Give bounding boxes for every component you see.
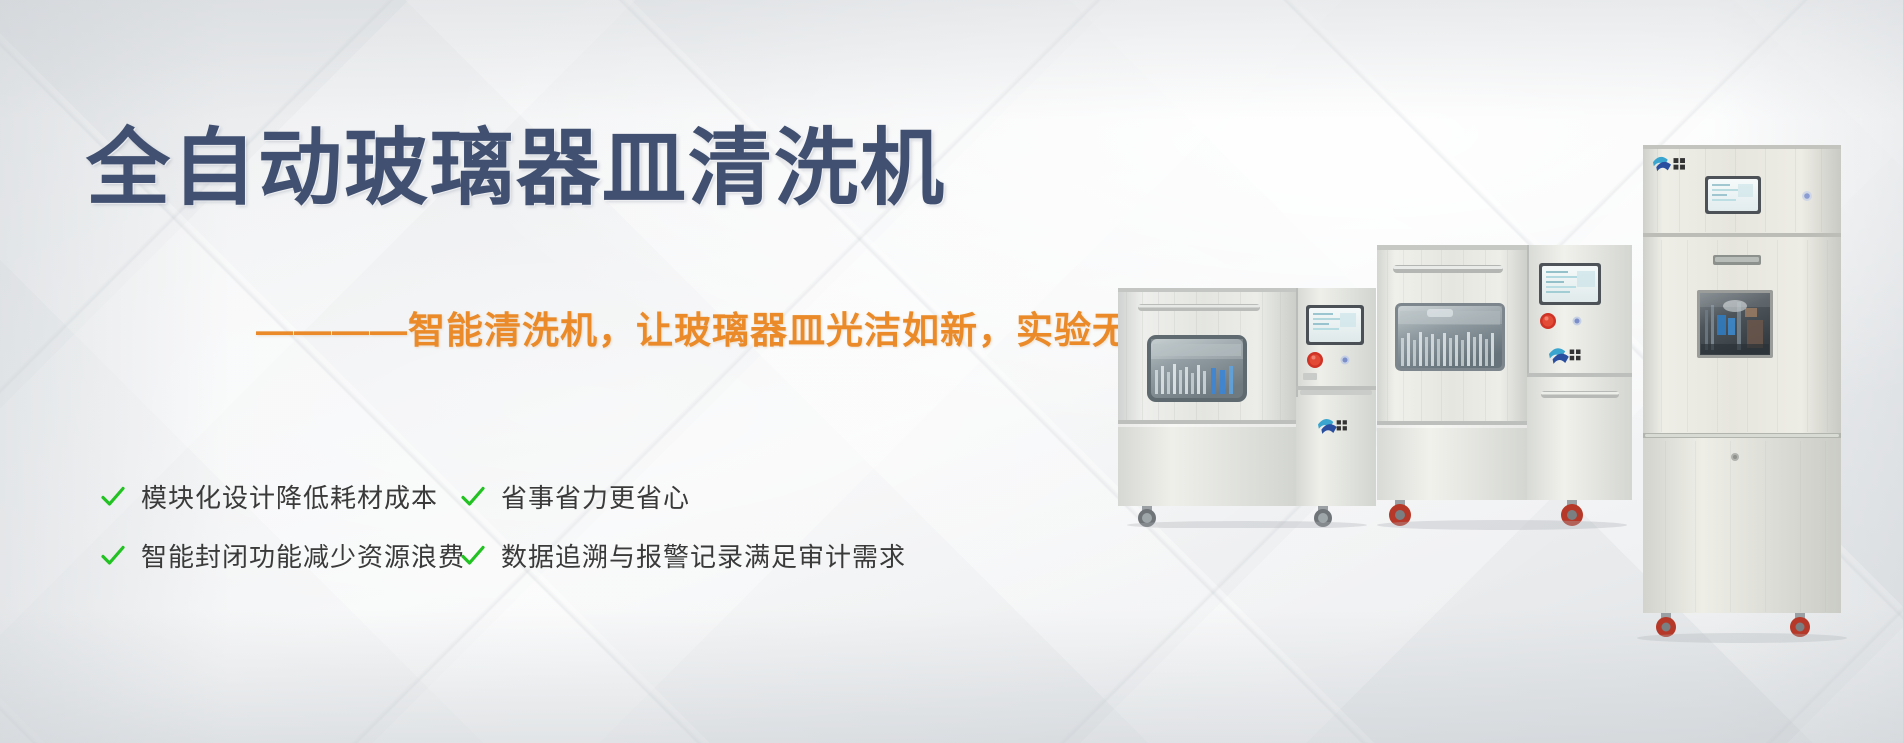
feature-item: 省事省力更省心	[460, 478, 980, 515]
feature-row: 模块化设计降低耗材成本 省事省力更省心	[100, 478, 1100, 515]
product-images	[1080, 0, 1903, 743]
feature-label: 模块化设计降低耗材成本	[141, 478, 438, 515]
product-banner: 全自动玻璃器皿清洗机 ————智能清洗机，让玻璃器皿光洁如新，实验无忧！ 模块化…	[0, 0, 1903, 743]
feature-row: 智能封闭功能减少资源浪费 数据追溯与报警记录满足审计需求	[100, 537, 1100, 574]
banner-headline: 全自动玻璃器皿清洗机	[86, 101, 946, 222]
product-image-tall-column-washer	[1635, 130, 1855, 660]
feature-list: 模块化设计降低耗材成本 省事省力更省心 智能封闭功能减少资源浪费	[100, 478, 1100, 596]
check-icon	[460, 484, 486, 510]
product-image-freestanding-washer	[1367, 233, 1642, 533]
feature-item: 数据追溯与报警记录满足审计需求	[460, 537, 980, 574]
feature-label: 省事省力更省心	[501, 478, 690, 515]
copy-block: 全自动玻璃器皿清洗机 ————智能清洗机，让玻璃器皿光洁如新，实验无忧！ 模块化…	[0, 0, 1150, 743]
feature-label: 智能封闭功能减少资源浪费	[141, 537, 465, 574]
tall-column-washer-illustration	[1635, 130, 1855, 660]
freestanding-washer-illustration	[1367, 233, 1642, 533]
feature-item: 模块化设计降低耗材成本	[100, 478, 460, 515]
product-image-undercounter-washer	[1100, 278, 1390, 528]
check-icon	[100, 484, 126, 510]
check-icon	[460, 543, 486, 569]
feature-label: 数据追溯与报警记录满足审计需求	[501, 537, 906, 574]
feature-item: 智能封闭功能减少资源浪费	[100, 537, 460, 574]
check-icon	[100, 543, 126, 569]
banner-subheadline: ————智能清洗机，让玻璃器皿光洁如新，实验无忧！	[256, 300, 1206, 354]
undercounter-washer-illustration	[1100, 278, 1390, 528]
